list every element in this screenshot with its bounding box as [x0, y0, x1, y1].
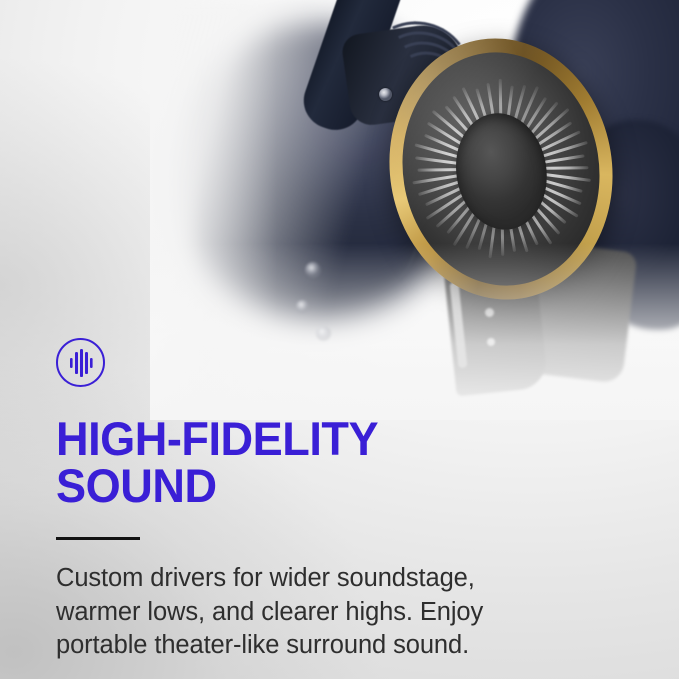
- diaphragm-slot: [417, 181, 459, 197]
- driver-assembly: [371, 22, 631, 316]
- page-title: HIGH-FIDELITY SOUND: [56, 415, 594, 509]
- feature-description: Custom drivers for wider soundstage, war…: [56, 562, 556, 663]
- diaphragm-slot: [544, 154, 584, 163]
- audio-waveform-icon: [56, 338, 105, 387]
- driver-diaphragm: [386, 38, 616, 300]
- product-feature-card: HIGH-FIDELITY SOUND Custom drivers for w…: [0, 0, 679, 679]
- title-divider: [56, 537, 140, 540]
- screw-icon: [305, 262, 321, 278]
- yoke-adjust-hole: [485, 308, 494, 317]
- diaphragm-slot: [545, 166, 588, 170]
- feature-content: HIGH-FIDELITY SOUND Custom drivers for w…: [56, 338, 616, 663]
- diaphragm-slot: [415, 156, 458, 164]
- diaphragm-slot: [417, 168, 457, 172]
- screw-icon: [296, 300, 309, 313]
